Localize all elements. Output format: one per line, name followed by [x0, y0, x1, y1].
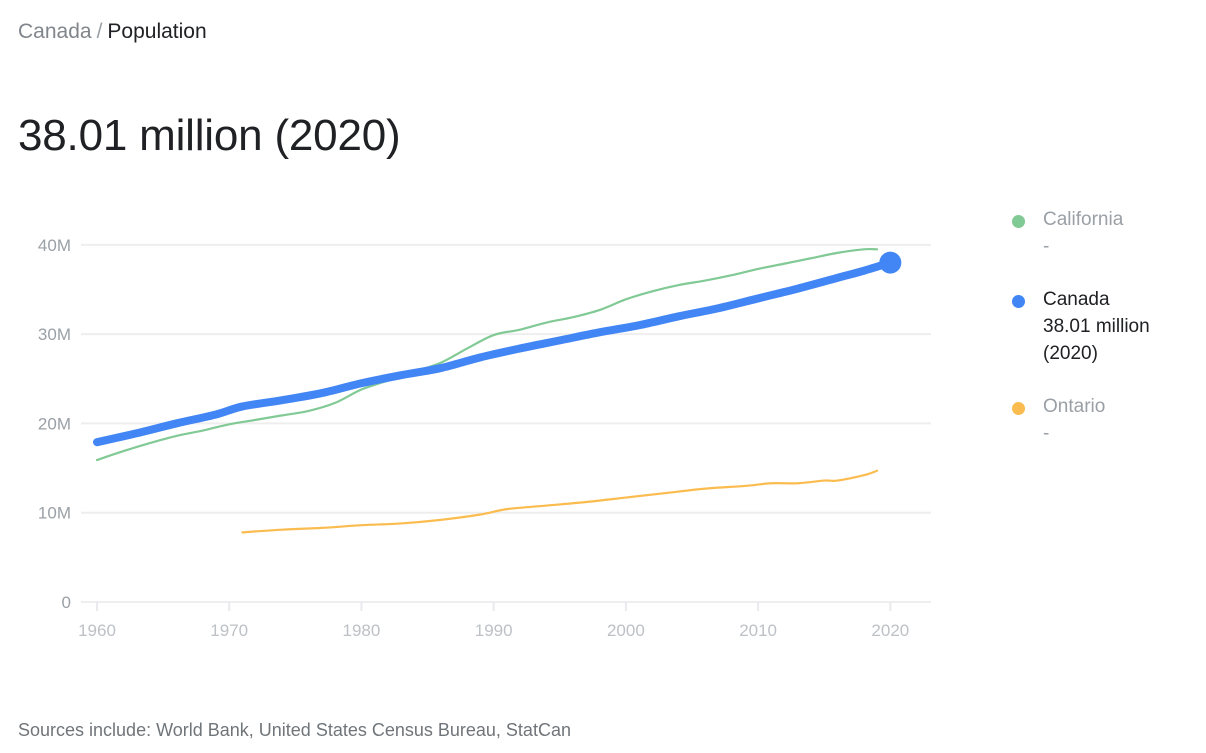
chart-legend: California - Canada 38.01 million (2020)…: [1012, 206, 1206, 473]
series-line-ontario[interactable]: [242, 471, 877, 533]
legend-value-california: -: [1043, 233, 1206, 260]
chart-canvas: 010M20M30M40M 19601970198019902000201020…: [0, 196, 1006, 666]
chart-x-axis-ticks: [97, 602, 890, 611]
y-axis-tick-label: 30M: [38, 325, 71, 344]
breadcrumb-item-country[interactable]: Canada: [18, 20, 92, 43]
legend-item-canada[interactable]: Canada 38.01 million (2020): [1012, 286, 1206, 367]
series-line-canada[interactable]: [97, 263, 890, 443]
legend-value-canada: 38.01 million (2020): [1043, 313, 1206, 367]
y-axis-tick-label: 20M: [38, 414, 71, 433]
legend-dot-california: [1012, 215, 1025, 228]
breadcrumb: Canada/Population: [18, 18, 207, 46]
x-axis-tick-label: 1970: [210, 621, 248, 640]
x-axis-tick-label: 2010: [739, 621, 777, 640]
legend-item-ontario[interactable]: Ontario -: [1012, 393, 1206, 447]
legend-label-california: California: [1043, 206, 1206, 233]
x-axis-tick-label: 2020: [871, 621, 909, 640]
breadcrumb-separator: /: [92, 20, 108, 43]
y-axis-tick-label: 10M: [38, 504, 71, 523]
chart-x-axis-labels: 1960197019801990200020102020: [78, 621, 909, 640]
chart-sources-note: Sources include: World Bank, United Stat…: [18, 718, 571, 742]
legend-item-california[interactable]: California -: [1012, 206, 1206, 260]
x-axis-tick-label: 1960: [78, 621, 116, 640]
legend-dot-ontario: [1012, 402, 1025, 415]
chart-y-axis-labels: 010M20M30M40M: [38, 236, 71, 612]
x-axis-tick-label: 1980: [343, 621, 381, 640]
chart-highlight-marker[interactable]: [879, 252, 901, 274]
legend-label-canada: Canada: [1043, 286, 1206, 313]
legend-value-ontario: -: [1043, 420, 1206, 447]
x-axis-tick-label: 2000: [607, 621, 645, 640]
page-title: 38.01 million (2020): [18, 108, 400, 164]
highlight-point-canada-2020[interactable]: [879, 252, 901, 274]
y-axis-tick-label: 40M: [38, 236, 71, 255]
chart-gridlines: [81, 245, 931, 602]
breadcrumb-item-metric: Population: [107, 20, 206, 43]
legend-label-ontario: Ontario: [1043, 393, 1206, 420]
y-axis-tick-label: 0: [62, 593, 71, 612]
legend-dot-canada: [1012, 295, 1025, 308]
chart-series-lines[interactable]: [97, 249, 890, 532]
x-axis-tick-label: 1990: [475, 621, 513, 640]
